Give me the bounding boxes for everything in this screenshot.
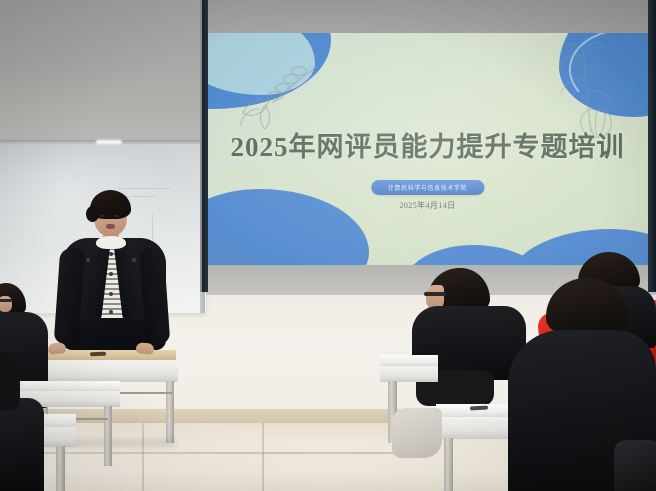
screen-frame-left-edge [202,0,208,292]
presenter-hand-left [47,342,66,355]
classroom-photo: 2025年网评员能力提升专题培训 计算机科学与信息技术学院 2025年4月14日 [0,0,656,491]
chair-back-left [0,352,20,410]
presenter-eye-left [100,215,105,217]
presenter-hair-bun [86,206,99,222]
presenter-jacket-button [109,272,113,276]
floor-cable [352,406,375,476]
attendee-left-edge-torso [0,398,44,491]
slide-organization-badge: 计算机科学与信息技术学院 [371,180,484,195]
presenter-jacket-button [109,292,113,296]
leaf-branch-icon [229,61,327,133]
presenter-jacket-button [109,310,113,314]
desk-apron-front [436,417,518,439]
desk-leg [444,438,453,491]
desk-apron [38,360,178,382]
presenter-eye-right [114,215,119,217]
desk-apron [380,366,438,382]
pen-on-presenter-desk [90,352,106,357]
backpack [614,440,656,491]
presenter-hand-right [135,342,154,355]
slide-date: 2025年4月14日 [207,200,648,211]
floor-cable [96,400,111,480]
whiteboard-highlight [96,140,122,144]
attendee-glasses-icon [424,292,446,296]
presenter-pocket-button [132,258,136,262]
screen-frame-right-edge [648,0,656,292]
floor-cable [414,440,433,488]
screen-upper-margin [206,0,656,33]
attendee-glasses-icon [0,299,12,302]
desk-leg [56,446,65,491]
desk-leg [166,381,174,443]
presenter-pocket-button [86,258,90,262]
presenter-collar [96,236,126,249]
projected-slide: 2025年网评员能力提升专题培训 计算机科学与信息技术学院 2025年4月14日 [207,33,648,265]
presenter-jacket-button [109,252,113,256]
slide-title: 2025年网评员能力提升专题培训 [207,125,648,164]
presenter-mouth [106,224,115,229]
